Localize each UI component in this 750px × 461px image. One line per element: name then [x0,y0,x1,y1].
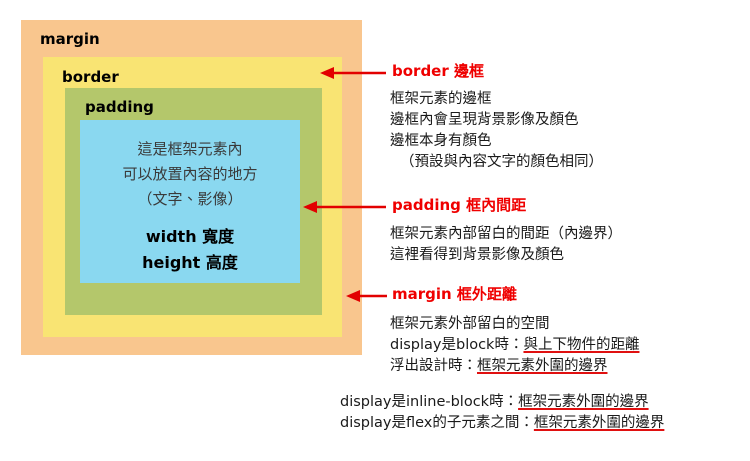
border-box: border padding 這是框架元素內 可以放置內容的地方 （文字、影像）… [43,57,342,337]
extra-note-line: display是flex的子元素之間：框架元素外圍的邊界 [340,413,664,434]
extra-note-emphasis: 框架元素外圍的邊界 [518,394,649,410]
annotation-emphasis: 框架元素外圍的邊界 [477,358,608,374]
annotation-line: 框架元素的邊框 [390,89,603,110]
extra-note-prefix: display是inline-block時： [340,394,518,410]
extra-notes-block: display是inline-block時：框架元素外圍的邊界 display是… [340,392,664,434]
content-line: 可以放置內容的地方 [80,162,300,187]
annotation-line: 這裡看得到背景影像及顏色 [390,245,622,266]
annotation-prefix: display是block時： [390,337,523,353]
content-line: （文字、影像） [80,187,300,212]
margin-annotation-heading: margin 框外距離 [392,287,517,302]
annotation-line: 邊框本身有顏色 [390,131,603,152]
annotation-prefix: 浮出設計時： [390,358,477,374]
content-line: 這是框架元素內 [80,137,300,162]
extra-note-line: display是inline-block時：框架元素外圍的邊界 [340,392,664,413]
margin-box: margin border padding 這是框架元素內 可以放置內容的地方 … [21,20,362,355]
extra-note-prefix: display是flex的子元素之間： [340,415,534,431]
border-box-label: border [62,70,119,85]
extra-note-emphasis: 框架元素外圍的邊界 [534,415,665,431]
border-annotation-body: 框架元素的邊框 邊框內會呈現背景影像及顏色 邊框本身有顏色 （預設與內容文字的顏… [390,89,603,173]
padding-annotation-body: 框架元素內部留白的間距（內邊界） 這裡看得到背景影像及顏色 [390,224,622,266]
margin-box-label: margin [40,32,100,47]
annotation-line: 邊框內會呈現背景影像及顏色 [390,110,603,131]
content-dimensions: width 寬度 height 高度 [80,224,300,276]
annotation-line: 框架元素外部留白的空間 [390,314,639,335]
padding-box: padding 這是框架元素內 可以放置內容的地方 （文字、影像） width … [65,88,322,315]
annotation-line-underlined: 浮出設計時：框架元素外圍的邊界 [390,356,639,377]
border-annotation-heading: border 邊框 [392,64,484,79]
content-width-label: width 寬度 [80,224,300,250]
content-height-label: height 高度 [80,250,300,276]
margin-annotation-body: 框架元素外部留白的空間 display是block時：與上下物件的距離 浮出設計… [390,314,639,377]
annotation-line: （預設與內容文字的顏色相同） [390,152,603,173]
annotation-line-underlined: display是block時：與上下物件的距離 [390,335,639,356]
annotation-line: 框架元素內部留白的間距（內邊界） [390,224,622,245]
annotation-emphasis: 與上下物件的距離 [523,337,639,353]
content-box: 這是框架元素內 可以放置內容的地方 （文字、影像） width 寬度 heigh… [80,120,300,283]
padding-annotation-heading: padding 框內間距 [392,198,526,213]
padding-box-label: padding [85,100,154,115]
box-model-diagram: margin border padding 這是框架元素內 可以放置內容的地方 … [0,0,750,461]
content-box-text: 這是框架元素內 可以放置內容的地方 （文字、影像） width 寬度 heigh… [80,137,300,276]
